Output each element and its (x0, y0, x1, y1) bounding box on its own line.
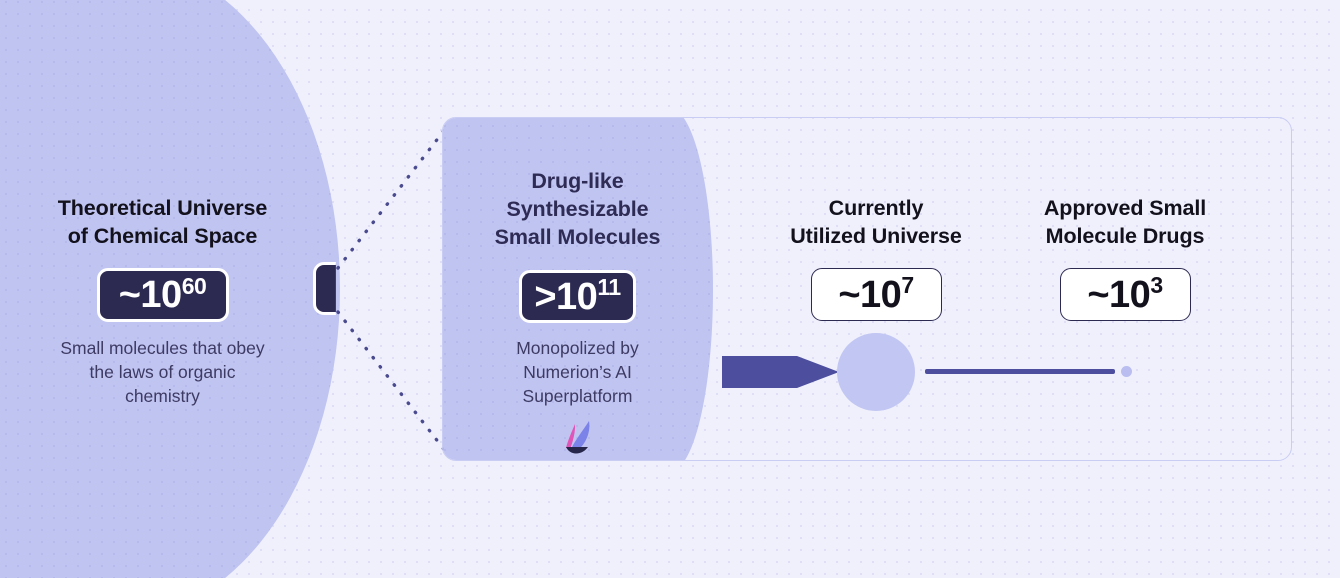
stage-title: Theoretical Universe of Chemical Space (20, 194, 305, 250)
title-line-2: Utilized Universe (790, 224, 962, 248)
value-badge: ~103 (1060, 268, 1191, 321)
title-line-1: Approved Small (1044, 196, 1206, 220)
caption-line-3: Superplatform (523, 386, 633, 406)
caption-line-3: chemistry (125, 386, 200, 406)
value-badge: >1011 (519, 270, 636, 323)
stage-drug-like-synthesizable: Drug-like Synthesizable Small Molecules … (465, 167, 690, 456)
title-line-1: Theoretical Universe (58, 196, 268, 220)
title-line-2: of Chemical Space (68, 224, 257, 248)
stage-title: Approved Small Molecule Drugs (1011, 194, 1239, 250)
stage-caption: Monopolized by Numerion’s AI Superplatfo… (465, 336, 690, 408)
title-line-3: Small Molecules (495, 225, 661, 249)
stage-theoretical-universe: Theoretical Universe of Chemical Space ~… (20, 194, 305, 408)
numerion-sail-logo-icon (558, 416, 598, 456)
circle-node-icon (837, 333, 915, 411)
value-base: ~10 (838, 276, 901, 314)
value-base: ~10 (119, 276, 182, 314)
diagram-canvas: Theoretical Universe of Chemical Space ~… (0, 0, 1340, 578)
end-point-dot-icon (1121, 366, 1132, 377)
value-exponent: 3 (1150, 274, 1162, 297)
stage-approved-small-molecule-drugs: Approved Small Molecule Drugs ~103 (1011, 194, 1239, 321)
stage-title: Drug-like Synthesizable Small Molecules (465, 167, 690, 251)
caption-line-1: Small molecules that obey (60, 338, 264, 358)
title-line-2: Synthesizable (506, 197, 648, 221)
value-exponent: 11 (597, 276, 620, 299)
caption-line-2: Numerion’s AI (523, 362, 632, 382)
stage-currently-utilized-universe: Currently Utilized Universe ~107 (762, 194, 990, 321)
stage-title: Currently Utilized Universe (762, 194, 990, 250)
caption-line-2: the laws of organic (90, 362, 236, 382)
stage-caption: Small molecules that obey the laws of or… (20, 336, 305, 408)
value-exponent: 60 (182, 275, 207, 298)
connector-line-icon (925, 369, 1115, 374)
value-exponent: 7 (901, 274, 913, 297)
value-badge: ~1060 (97, 268, 229, 322)
title-line-1: Currently (829, 196, 924, 220)
caption-line-1: Monopolized by (516, 338, 639, 358)
value-badge: ~107 (811, 268, 942, 321)
value-base: >10 (534, 278, 597, 316)
value-base: ~10 (1087, 276, 1150, 314)
title-line-2: Molecule Drugs (1046, 224, 1205, 248)
title-line-1: Drug-like (531, 169, 623, 193)
